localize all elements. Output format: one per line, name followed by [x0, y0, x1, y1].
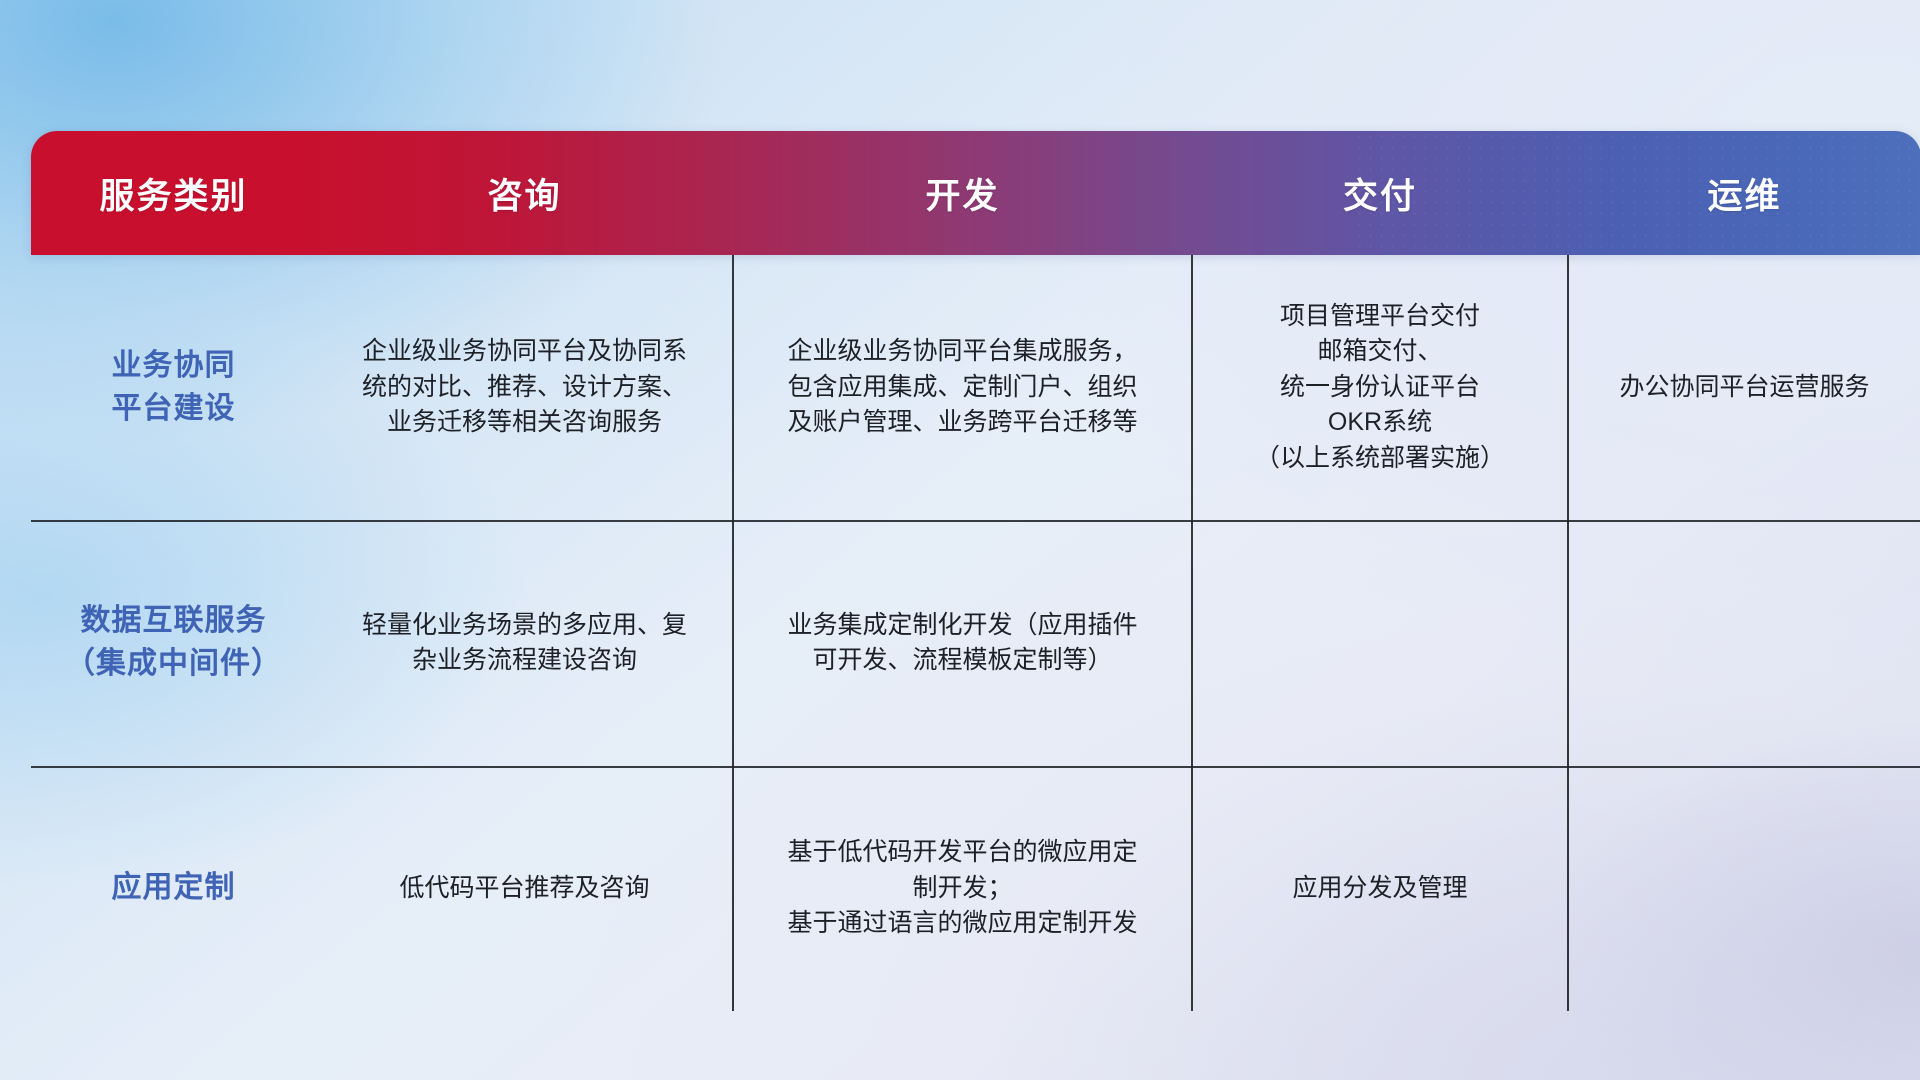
column-header-operations: 运维: [1568, 168, 1920, 219]
column-header-category: 服务类别: [31, 168, 316, 219]
table-header-row: 服务类别 咨询 开发 交付 运维: [31, 131, 1920, 255]
service-matrix-table: 服务类别 咨询 开发 交付 运维 业务协同 平台建设 企业级业务协同平台及协同系…: [31, 131, 1920, 1011]
cell-operations: 办公协同平台运营服务: [1568, 255, 1920, 520]
cell-consulting: 低代码平台推荐及咨询: [316, 766, 733, 1011]
cell-operations: [1568, 520, 1920, 766]
table-row: 应用定制 低代码平台推荐及咨询 基于低代码开发平台的微应用定 制开发； 基于通过…: [31, 766, 1920, 1011]
cell-delivery: 项目管理平台交付 邮箱交付、 统一身份认证平台 OKR系统 （以上系统部署实施）: [1192, 255, 1568, 520]
table-body: 业务协同 平台建设 企业级业务协同平台及协同系 统的对比、推荐、设计方案、 业务…: [31, 255, 1920, 1011]
table-row: 业务协同 平台建设 企业级业务协同平台及协同系 统的对比、推荐、设计方案、 业务…: [31, 255, 1920, 520]
cell-delivery: 应用分发及管理: [1192, 766, 1568, 1011]
column-header-delivery: 交付: [1192, 168, 1568, 219]
column-header-consulting: 咨询: [316, 168, 733, 219]
cell-development: 基于低代码开发平台的微应用定 制开发； 基于通过语言的微应用定制开发: [733, 766, 1192, 1011]
column-header-development: 开发: [733, 168, 1192, 219]
cell-operations: [1568, 766, 1920, 1011]
slide-canvas: 服务类别 咨询 开发 交付 运维 业务协同 平台建设 企业级业务协同平台及协同系…: [0, 0, 1920, 1080]
cell-consulting: 轻量化业务场景的多应用、复 杂业务流程建设咨询: [316, 520, 733, 766]
row-label: 业务协同 平台建设: [31, 255, 316, 520]
cell-development: 业务集成定制化开发（应用插件 可开发、流程模板定制等）: [733, 520, 1192, 766]
cell-development: 企业级业务协同平台集成服务， 包含应用集成、定制门户、组织 及账户管理、业务跨平…: [733, 255, 1192, 520]
row-label: 应用定制: [31, 766, 316, 1011]
table-row: 数据互联服务 （集成中间件） 轻量化业务场景的多应用、复 杂业务流程建设咨询 业…: [31, 520, 1920, 766]
cell-delivery: [1192, 520, 1568, 766]
cell-consulting: 企业级业务协同平台及协同系 统的对比、推荐、设计方案、 业务迁移等相关咨询服务: [316, 255, 733, 520]
row-label: 数据互联服务 （集成中间件）: [31, 520, 316, 766]
